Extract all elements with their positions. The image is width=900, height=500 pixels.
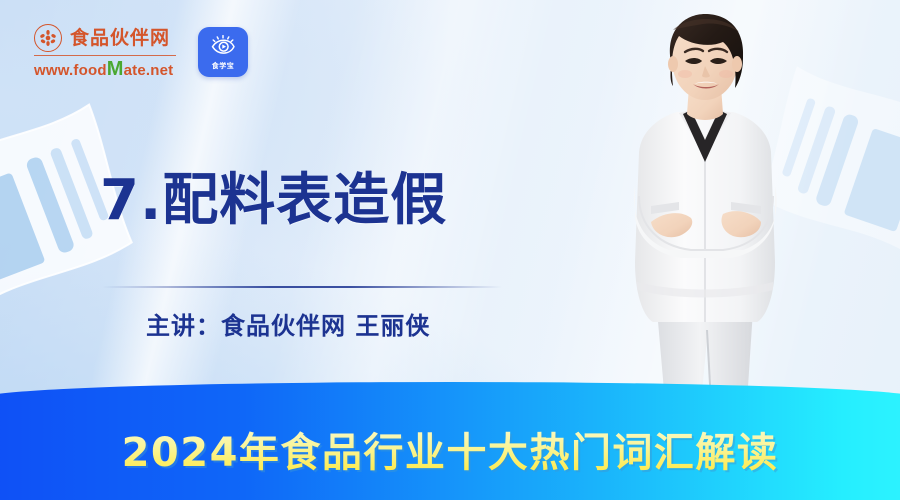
header-logo-row: 食品伙伴网 www.foodMate.net <box>34 24 248 80</box>
page-title: 7.配料表造假 <box>100 172 447 231</box>
foodmate-rule <box>34 55 176 56</box>
foodmate-chinese-name: 食品伙伴网 <box>70 29 170 48</box>
url-suffix: ate.net <box>124 62 174 79</box>
url-mid: M <box>107 58 124 80</box>
foodmate-url: www.foodMate.net <box>34 58 173 80</box>
shixuebao-logo[interactable]: 食学宝 <box>198 27 248 77</box>
title-divider <box>102 286 502 288</box>
foodmate-logo[interactable]: 食品伙伴网 www.foodMate.net <box>34 24 176 80</box>
bottom-banner: 2024年食品行业十大热门词汇解读 <box>0 380 900 500</box>
shixuebao-label: 食学宝 <box>212 63 235 70</box>
presentation-slide: 食品伙伴网 www.foodMate.net <box>0 0 900 500</box>
flower-emblem-icon <box>34 24 62 52</box>
presenter-subtitle: 主讲：食品伙伴网 王丽侠 <box>146 306 430 341</box>
presenter-portrait <box>595 10 815 402</box>
url-prefix: www.food <box>34 62 107 79</box>
banner-title: 2024年食品行业十大热门词汇解读 <box>0 420 900 478</box>
eye-play-icon <box>210 35 236 62</box>
